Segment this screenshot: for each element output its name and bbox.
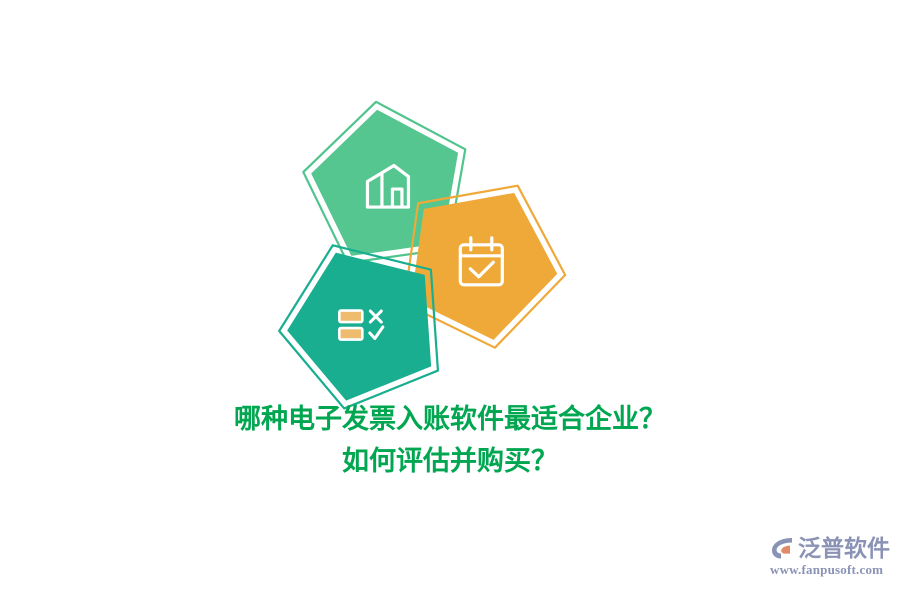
- checklist-bar-1: [339, 311, 362, 323]
- watermark-brand-row: 泛普软件: [770, 533, 892, 563]
- headline-line-1: 哪种电子发票入账软件最适合企业？: [0, 398, 900, 440]
- checklist-bar-2: [339, 328, 362, 340]
- page-canvas: 哪种电子发票入账软件最适合企业？ 如何评估并购买？ 泛普软件 www.fanpu…: [0, 0, 900, 600]
- fanpu-logo-icon: [770, 535, 796, 561]
- pentagon-cluster-graphic: [255, 95, 565, 405]
- headline-line-2: 如何评估并购买？: [0, 440, 900, 482]
- watermark-brand-name: 泛普软件: [798, 535, 890, 561]
- headline: 哪种电子发票入账软件最适合企业？ 如何评估并购买？: [0, 398, 900, 482]
- watermark: 泛普软件 www.fanpusoft.com: [770, 533, 892, 583]
- watermark-url: www.fanpusoft.com: [770, 562, 892, 578]
